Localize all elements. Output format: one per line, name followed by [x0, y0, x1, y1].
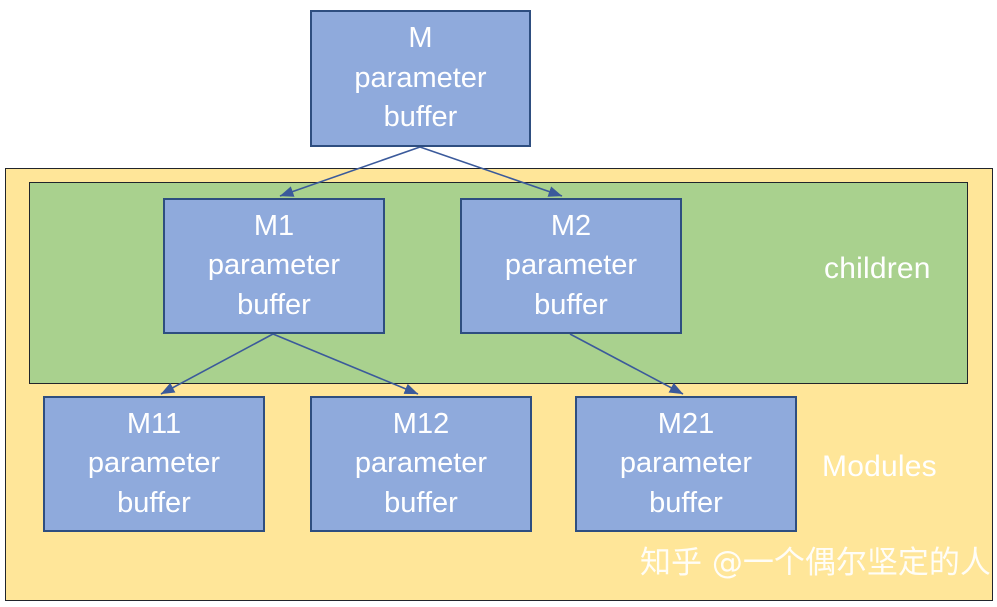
diagram-canvas: children Modules M parameter buffer M1 p…: [0, 0, 997, 607]
module-line-3: buffer: [117, 484, 191, 523]
module-name: M1: [254, 207, 294, 246]
module-line-2: parameter: [355, 444, 487, 483]
module-name: M2: [551, 207, 591, 246]
module-box-m21[interactable]: M21 parameter buffer: [575, 396, 797, 532]
module-line-3: buffer: [384, 484, 458, 523]
module-name: M21: [658, 405, 714, 444]
module-line-3: buffer: [649, 484, 723, 523]
module-line-2: parameter: [620, 444, 752, 483]
module-name: M11: [127, 405, 181, 444]
module-box-m1[interactable]: M1 parameter buffer: [163, 198, 385, 334]
module-line-2: parameter: [354, 59, 486, 98]
module-line-2: parameter: [208, 246, 340, 285]
module-box-m[interactable]: M parameter buffer: [310, 10, 531, 147]
modules-label: Modules: [822, 452, 937, 482]
module-line-2: parameter: [505, 246, 637, 285]
module-line-2: parameter: [88, 444, 220, 483]
module-box-m11[interactable]: M11 parameter buffer: [43, 396, 265, 532]
module-line-3: buffer: [534, 286, 608, 325]
module-name: M12: [393, 405, 449, 444]
children-label: children: [824, 254, 931, 284]
module-box-m12[interactable]: M12 parameter buffer: [310, 396, 532, 532]
module-name: M: [408, 19, 432, 58]
module-line-3: buffer: [237, 286, 311, 325]
module-box-m2[interactable]: M2 parameter buffer: [460, 198, 682, 334]
watermark-text: 知乎 @一个偶尔坚定的人: [640, 548, 991, 579]
module-line-3: buffer: [384, 98, 458, 137]
